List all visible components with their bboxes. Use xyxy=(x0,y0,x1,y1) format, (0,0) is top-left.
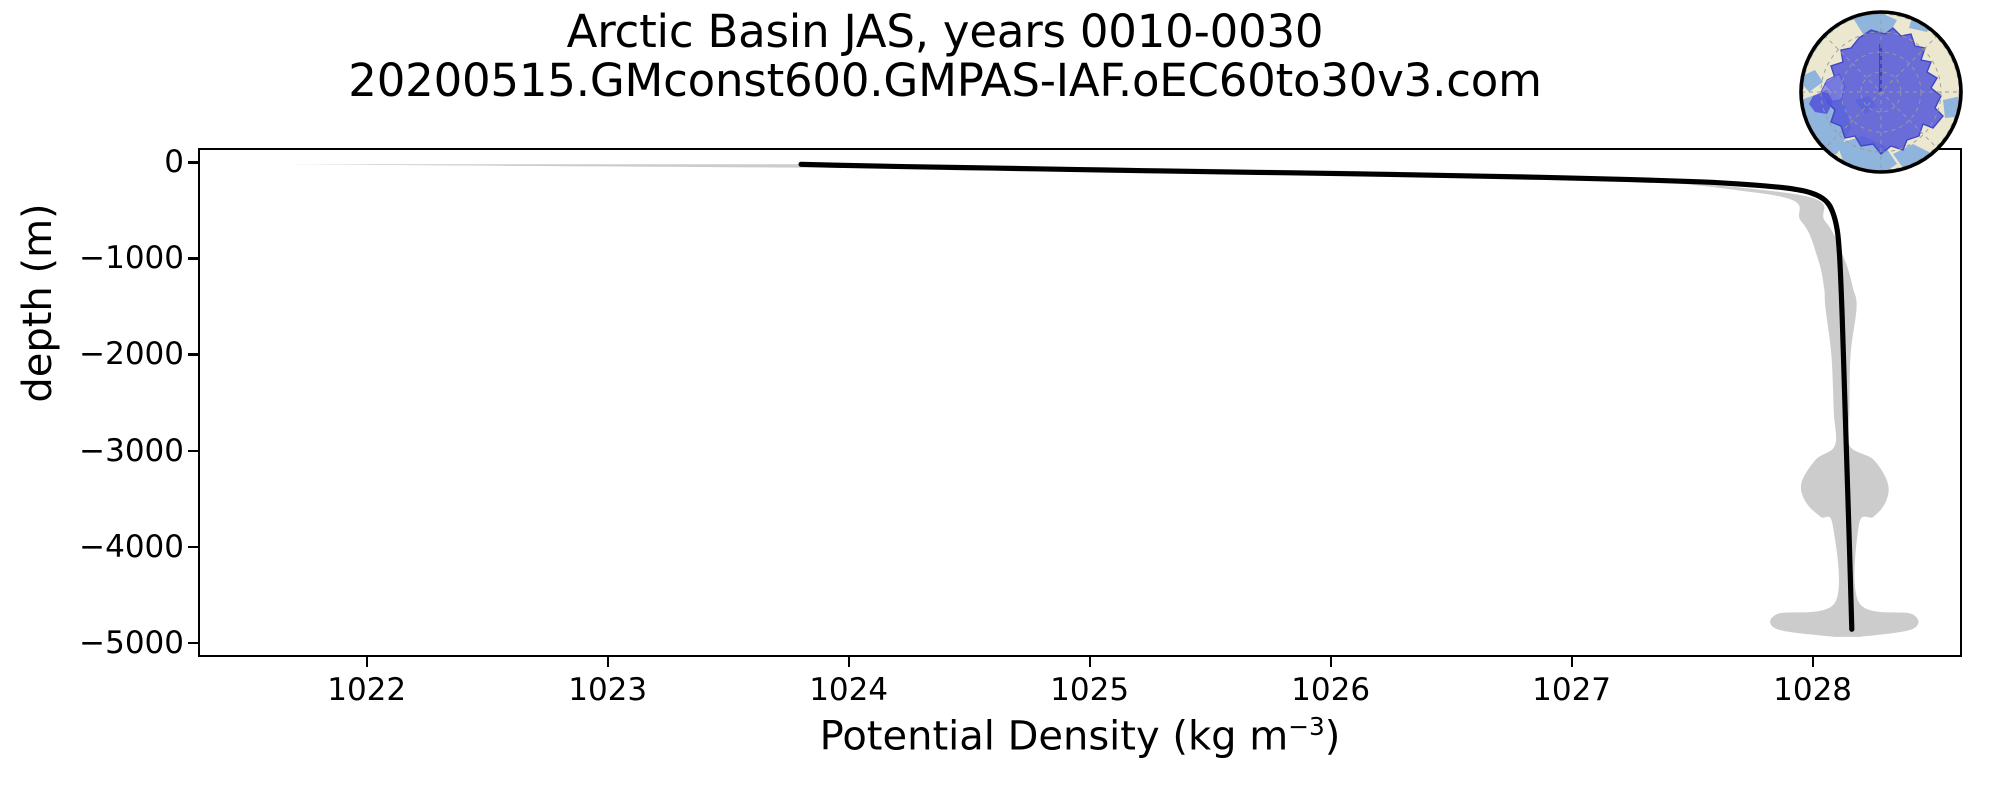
y-tick-label: −1000 xyxy=(79,240,184,276)
x-tick-label: 1025 xyxy=(1050,672,1129,708)
inset-map-svg xyxy=(1793,4,1969,180)
plot-axes xyxy=(198,148,1962,657)
plot-svg xyxy=(200,150,1960,655)
x-tick-label: 1027 xyxy=(1532,672,1611,708)
x-tick-label: 1024 xyxy=(809,672,888,708)
uncertainty-band xyxy=(277,164,1919,637)
x-tick-mark xyxy=(607,657,609,667)
y-tick-mark xyxy=(188,257,198,259)
y-tick-mark xyxy=(188,161,198,163)
x-tick-mark xyxy=(1089,657,1091,667)
y-tick-label: −3000 xyxy=(79,433,184,469)
x-axis-label-main: Potential Density (kg m xyxy=(820,713,1289,759)
x-tick-mark xyxy=(1571,657,1573,667)
x-tick-mark xyxy=(848,657,850,667)
title-line-2: 20200515.GMconst600.GMPAS-IAF.oEC60to30v… xyxy=(0,57,1890,106)
figure-canvas: Arctic Basin JAS, years 0010-0030 202005… xyxy=(0,0,2000,800)
x-tick-label: 1026 xyxy=(1291,672,1370,708)
arctic-basin-region-map xyxy=(1793,4,1969,180)
x-tick-label: 1023 xyxy=(568,672,647,708)
x-tick-mark xyxy=(1330,657,1332,667)
x-tick-label: 1028 xyxy=(1773,672,1852,708)
y-tick-label: −5000 xyxy=(79,625,184,661)
x-axis-label: Potential Density (kg m−3) xyxy=(198,712,1962,759)
density-profile-line xyxy=(801,164,1852,629)
y-tick-mark xyxy=(188,353,198,355)
x-axis-label-exponent: −3 xyxy=(1288,712,1325,741)
x-tick-mark xyxy=(1812,657,1814,667)
y-axis-label: depth (m) xyxy=(15,93,61,513)
x-tick-mark xyxy=(366,657,368,667)
y-tick-mark xyxy=(188,546,198,548)
title-line-1: Arctic Basin JAS, years 0010-0030 xyxy=(0,8,1890,57)
y-tick-label: 0 xyxy=(164,144,184,180)
x-axis-label-close: ) xyxy=(1325,713,1341,759)
y-tick-mark xyxy=(188,450,198,452)
y-tick-mark xyxy=(188,642,198,644)
y-tick-label: −2000 xyxy=(79,336,184,372)
y-tick-label: −4000 xyxy=(79,529,184,565)
figure-title: Arctic Basin JAS, years 0010-0030 202005… xyxy=(0,8,1890,105)
x-tick-label: 1022 xyxy=(327,672,406,708)
